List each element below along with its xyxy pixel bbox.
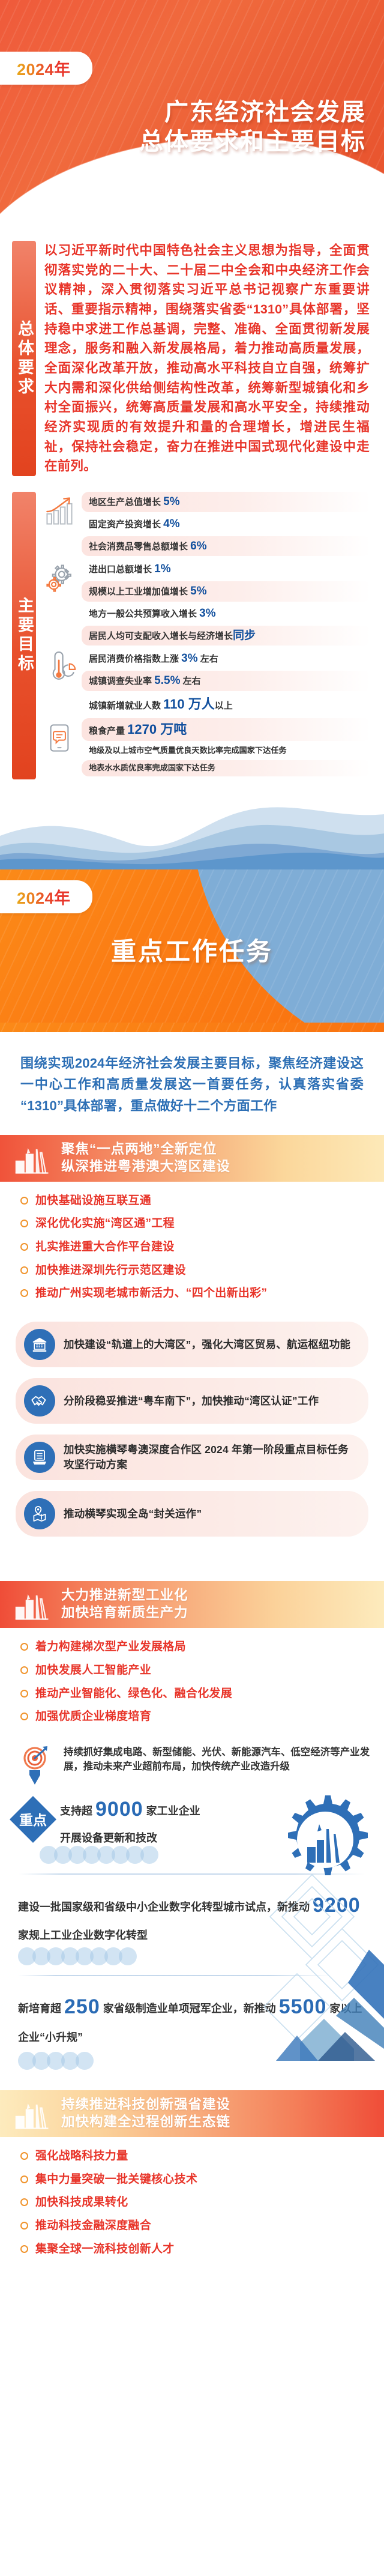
diamond-decoration xyxy=(240,1869,384,2067)
pill-card-text: 分阶段稳妥推进“粤车南下”，加快推动“湾区认证”工作 xyxy=(64,1394,319,1409)
task-banner-new-industrialization: 大力推进新型工业化 加快培育新质生产力 xyxy=(0,1581,384,1628)
banner-text: 聚焦“一点两地”全新定位 纵深推进粤港澳大湾区建设 xyxy=(61,1141,230,1176)
bullet-ring-icon xyxy=(20,1220,28,1227)
wave-divider xyxy=(0,797,384,869)
bullet-ring-icon xyxy=(20,1643,28,1651)
list-item: 深化优化实施“湾区通”工程 xyxy=(20,1217,370,1232)
target-highlight-text: 持续抓好集成电路、新型储能、光伏、新能源汽车、低空经济等产业发展，推动未来产业超… xyxy=(64,1745,370,1774)
year-chip-2: 2024年 xyxy=(0,880,92,913)
bullet-ring-icon xyxy=(20,2152,28,2160)
goal-item: 地区生产总值增长 5% xyxy=(82,492,371,512)
key-stat-line-2: 开展设备更新和技改 xyxy=(60,1828,200,1848)
banner-text: 大力推进新型工业化 加快培育新质生产力 xyxy=(61,1587,188,1622)
bullet-ring-icon xyxy=(20,1713,28,1720)
key-stat-row: 重点 支持超 9000 家工业企业 开展设备更新和技改 xyxy=(0,1791,384,1848)
goal-item: 固定资产投资增长 4% xyxy=(82,514,371,534)
year-chip-1: 2024年 xyxy=(0,52,92,85)
main-goals-tab: 主要目标 xyxy=(12,492,36,779)
year-suffix-2: 年 xyxy=(54,889,71,907)
bullet-ring-icon xyxy=(20,2245,28,2253)
banner-line-2: 加快培育新质生产力 xyxy=(61,1604,188,1622)
banner-line-2: 纵深推进粤港澳大湾区建设 xyxy=(61,1158,230,1176)
overall-requirements-section: 总体要求 以习近平新时代中国特色社会主义思想为指导，全面贯彻落实党的二十大、二十… xyxy=(0,237,384,476)
list-item: 推动产业智能化、绿色化、融合化发展 xyxy=(20,1687,370,1702)
key-stat-line-1: 支持超 9000 家工业企业 xyxy=(60,1791,200,1828)
list-item: 扎实推进重大合作平台建设 xyxy=(20,1240,370,1255)
bullet-ring-icon xyxy=(20,1690,28,1698)
bullet-ring-icon xyxy=(20,1289,28,1297)
goal-lines: 进出口总额增长 1% 规模以上工业增加值增长 5% 地方一般公共预算收入增长 3… xyxy=(82,559,371,647)
goal-item: 地级及以上城市空气质量优良天数比率完成国家下达任务 xyxy=(82,743,371,759)
year-number-1: 2024 xyxy=(17,61,54,79)
pill-card-text: 推动横琴实现全岛“封关运作” xyxy=(64,1507,202,1522)
banner-text: 持续推进科技创新强省建设 加快构建全过程创新生态链 xyxy=(61,2096,230,2131)
key-stat-text: 支持超 9000 家工业企业 开展设备更新和技改 xyxy=(60,1791,200,1848)
goal-group: 粮食产量 1270 万吨 地级及以上城市空气质量优良天数比率完成国家下达任务 地… xyxy=(42,718,371,778)
year-suffix-1: 年 xyxy=(54,61,71,79)
goal-item: 进出口总额增长 1% xyxy=(82,559,371,579)
pill-card: 分阶段稳妥推进“粤车南下”，加快推动“湾区认证”工作 xyxy=(16,1378,368,1424)
list-item: 加快科技成果转化 xyxy=(20,2195,370,2210)
hero-banner-2-footer xyxy=(0,1023,384,1032)
goal-lines: 粮食产量 1270 万吨 地级及以上城市空气质量优良天数比率完成国家下达任务 地… xyxy=(82,718,371,778)
handshake-icon xyxy=(24,1385,55,1416)
factory-icon xyxy=(13,2096,53,2131)
task-banner-greater-bay-area: 聚焦“一点两地”全新定位 纵深推进粤港澳大湾区建设 xyxy=(0,1135,384,1182)
key-badge: 重点 xyxy=(7,1794,59,1845)
spacer xyxy=(0,1561,384,1581)
hero-banner-2: 2024年 重点工作任务 xyxy=(0,869,384,1023)
goal-item: 规模以上工业增加值增长 5% xyxy=(82,581,371,602)
page-title-line-2: 总体要求和主要目标 xyxy=(0,127,366,157)
list-item: 加快发展人工智能产业 xyxy=(20,1663,370,1678)
archive-icon xyxy=(24,1442,55,1473)
thermometer-pie-icon xyxy=(42,650,77,687)
pill-card: 推动横琴实现全岛“封关运作” xyxy=(16,1491,368,1537)
building-icon xyxy=(24,1329,55,1360)
factory-icon xyxy=(13,1587,53,1622)
stat-block: 建设一批国家级和省级中小企业数字化转型城市试点，新推动 9200 家规上工业企业… xyxy=(0,1875,384,2073)
list-item: 推动广州实现老城市新活力、“四个出新出彩” xyxy=(20,1286,370,1301)
goal-item: 地方一般公共预算收入增长 3% xyxy=(82,603,371,624)
goal-item: 城镇调查失业率 5.5% 左右 xyxy=(82,671,371,691)
goal-item: 居民消费价格指数上涨 3% 左右 xyxy=(82,649,371,669)
goal-item: 城镇新增就业人数 110 万人以上 xyxy=(82,693,371,716)
gears-icon xyxy=(42,560,77,597)
goal-item: 粮食产量 1270 万吨 xyxy=(82,718,371,741)
goal-item: 地表水水质优良率完成国家下达任务 xyxy=(82,760,371,776)
factory-icon xyxy=(13,1141,53,1176)
goal-group: 进出口总额增长 1% 规模以上工业增加值增长 5% 地方一般公共预算收入增长 3… xyxy=(42,559,371,647)
list-item: 加快基础设施互联互通 xyxy=(20,1194,370,1209)
goal-group: 居民消费价格指数上涨 3% 左右 城镇调查失业率 5.5% 左右 城镇新增就业人… xyxy=(42,649,371,717)
bullet-list-sci-tech-innovation: 强化战略科技力量 集中力量突破一批关键核心技术 加快科技成果转化 推动科技金融深… xyxy=(0,2137,384,2273)
overall-requirements-text: 以习近平新时代中国特色社会主义思想为指导，全面贯彻落实党的二十大、二十届二中全会… xyxy=(44,241,370,476)
banner-line-2: 加快构建全过程创新生态链 xyxy=(61,2114,230,2131)
page-title: 广东经济社会发展 总体要求和主要目标 xyxy=(0,98,384,157)
pill-card-text: 加快实施横琴粤澳深度合作区 2024 年第一阶段重点目标任务攻坚行动方案 xyxy=(64,1442,356,1472)
list-item: 强化战略科技力量 xyxy=(20,2149,370,2164)
bullet-ring-icon xyxy=(20,1266,28,1274)
bullet-ring-icon xyxy=(20,1197,28,1205)
bullet-list-new-industrialization: 着力构建梯次型产业发展格局 加快发展人工智能产业 推动产业智能化、绿色化、融合化… xyxy=(0,1628,384,1741)
list-item: 加快推进深圳先行示范区建设 xyxy=(20,1263,370,1278)
banner-line-1: 持续推进科技创新强省建设 xyxy=(61,2096,230,2114)
list-item: 集中力量突破一批关键核心技术 xyxy=(20,2172,370,2187)
year-number-2: 2024 xyxy=(17,889,54,907)
key-stat-block: 重点 支持超 9000 家工业企业 开展设备更新和技改 xyxy=(0,1789,384,2079)
page-title-line-1: 广东经济社会发展 xyxy=(0,98,366,127)
target-dart-icon xyxy=(18,1745,55,1787)
bullet-ring-icon xyxy=(20,1243,28,1251)
infographic-page: 2024年 广东经济社会发展 总体要求和主要目标 总体要求 以习近平新时代中国特… xyxy=(0,0,384,2273)
key-badge-label: 重点 xyxy=(19,1812,47,1828)
pill-card: 加快实施横琴粤澳深度合作区 2024 年第一阶段重点目标任务攻坚行动方案 xyxy=(16,1435,368,1480)
pill-card: 加快建设“轨道上的大湾区”，强化大湾区贸易、航运枢纽功能 xyxy=(16,1322,368,1367)
banner-line-1: 大力推进新型工业化 xyxy=(61,1587,188,1604)
list-item: 推动科技金融深度融合 xyxy=(20,2219,370,2234)
bullet-ring-icon xyxy=(20,2175,28,2183)
key-tasks-intro-text: 围绕实现2024年经济社会发展主要目标，聚焦经济建设这一中心工作和高质量发展这一… xyxy=(0,1032,384,1135)
bar-chart-growth-icon xyxy=(42,493,77,530)
goal-item: 居民人均可支配收入增长与经济增长同步 xyxy=(82,626,371,646)
main-goals-list: 地区生产总值增长 5% 固定资产投资增长 4% 社会消费品零售总额增长 6% xyxy=(42,492,371,779)
goal-item: 社会消费品零售总额增长 6% xyxy=(82,536,371,557)
bullet-ring-icon xyxy=(20,1666,28,1674)
task-banner-sci-tech-innovation: 持续推进科技创新强省建设 加快构建全过程创新生态链 xyxy=(0,2090,384,2137)
bullet-ring-icon xyxy=(20,2198,28,2206)
hero-banner-1: 2024年 广东经济社会发展 总体要求和主要目标 xyxy=(0,0,384,237)
target-highlight-card: 持续抓好集成电路、新型储能、光伏、新能源汽车、低空经济等产业发展，推动未来产业超… xyxy=(0,1741,384,1789)
goal-group: 地区生产总值增长 5% 固定资产投资增长 4% 社会消费品零售总额增长 6% xyxy=(42,492,371,558)
mobile-chat-icon xyxy=(42,719,77,757)
list-item: 加强优质企业梯度培育 xyxy=(20,1710,370,1725)
section-title-key-tasks: 重点工作任务 xyxy=(0,931,384,968)
goal-lines: 地区生产总值增长 5% 固定资产投资增长 4% 社会消费品零售总额增长 6% xyxy=(82,492,371,558)
map-pin-icon xyxy=(24,1498,55,1529)
bullet-ring-icon xyxy=(20,2222,28,2230)
goal-lines: 居民消费价格指数上涨 3% 左右 城镇调查失业率 5.5% 左右 城镇新增就业人… xyxy=(82,649,371,717)
list-item: 着力构建梯次型产业发展格局 xyxy=(20,1640,370,1655)
pill-card-list-greater-bay-area: 加快建设“轨道上的大湾区”，强化大湾区贸易、航运枢纽功能 分阶段稳妥推进“粤车南… xyxy=(0,1318,384,1561)
list-item: 集聚全球一流科技创新人才 xyxy=(20,2242,370,2257)
pill-card-text: 加快建设“轨道上的大湾区”，强化大湾区贸易、航运枢纽功能 xyxy=(64,1337,350,1352)
spacer xyxy=(0,2079,384,2090)
bullet-list-greater-bay-area: 加快基础设施互联互通 深化优化实施“湾区通”工程 扎实推进重大合作平台建设 加快… xyxy=(0,1182,384,1318)
main-goals-section: 主要目标 地区生产总值增长 5% 固定资产投资增长 4% xyxy=(0,476,384,797)
banner-line-1: 聚焦“一点两地”全新定位 xyxy=(61,1141,230,1158)
overall-requirements-tab: 总体要求 xyxy=(12,241,36,476)
